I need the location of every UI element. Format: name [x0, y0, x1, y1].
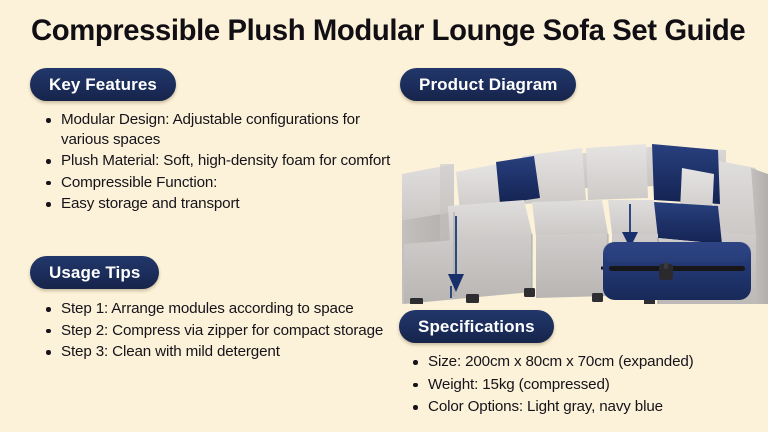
list-item: Step 2: Compress via zipper for compact …: [39, 321, 391, 341]
list-item: Size: 200cm x 80cm x 70cm (expanded): [406, 352, 756, 372]
usage-tips-list: Step 1: Arrange modules according to spa…: [39, 299, 391, 364]
specifications-list: Size: 200cm x 80cm x 70cm (expanded) Wei…: [406, 352, 756, 420]
list-item: Color Options: Light gray, navy blue: [406, 397, 756, 417]
zipper-track: [609, 266, 745, 271]
list-item: Weight: 15kg (compressed): [406, 375, 756, 395]
list-item: Compressible Function:: [39, 173, 391, 193]
arrow-down-icon-left: [443, 216, 469, 294]
page-title: Compressible Plush Modular Lounge Sofa S…: [31, 14, 723, 48]
section-badge-key-features: Key Features: [30, 68, 176, 101]
list-item: Step 3: Clean with mild detergent: [39, 342, 391, 362]
key-features-list: Modular Design: Adjustable configuration…: [39, 110, 391, 216]
list-item: Step 1: Arrange modules according to spa…: [39, 299, 391, 319]
bag-strap: [601, 268, 603, 271]
infographic-poster: Compressible Plush Modular Lounge Sofa S…: [0, 0, 768, 432]
list-item: Modular Design: Adjustable configuration…: [39, 110, 391, 149]
list-item: Plush Material: Soft, high-density foam …: [39, 151, 391, 171]
module-front-center: [536, 234, 608, 298]
navy-seat-cushion: [654, 202, 722, 244]
list-item: Easy storage and transport: [39, 194, 391, 214]
section-badge-usage-tips: Usage Tips: [30, 256, 159, 289]
section-badge-specifications: Specifications: [399, 310, 554, 343]
navy-throw-pillow: [496, 156, 540, 204]
section-badge-product-diagram: Product Diagram: [400, 68, 576, 101]
compressed-storage-bag: [601, 240, 753, 302]
seat-module-center: [532, 200, 608, 236]
